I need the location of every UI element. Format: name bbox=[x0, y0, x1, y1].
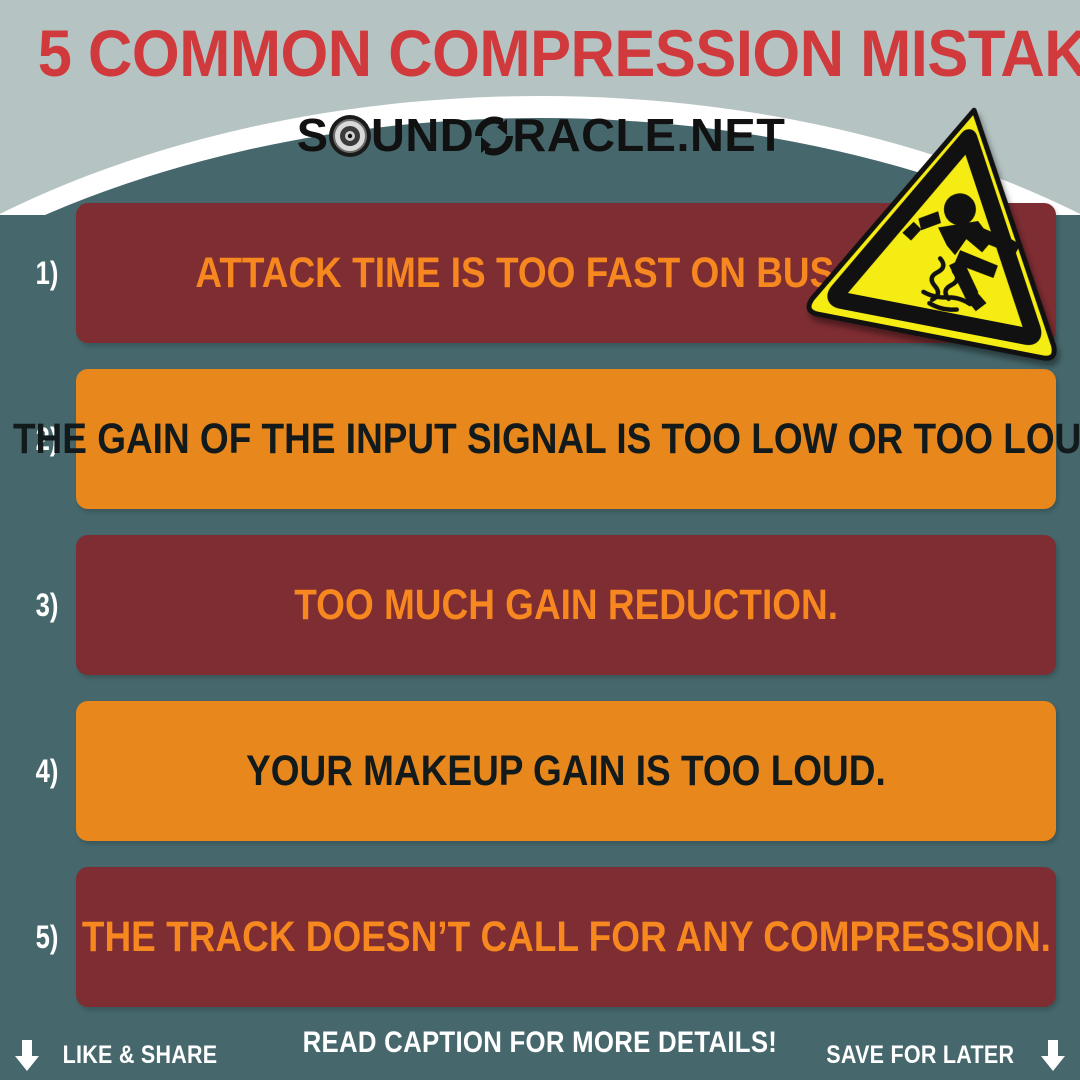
list-item: 3) TOO MUCH GAIN REDUCTION. bbox=[0, 535, 1080, 675]
list-item-bar: YOUR MAKEUP GAIN IS TOO LOUD. bbox=[76, 701, 1056, 841]
list-item-number: 1) bbox=[24, 203, 70, 343]
list-item-label: THE TRACK DOESN’T CALL FOR ANY COMPRESSI… bbox=[81, 914, 1050, 960]
speaker-icon bbox=[328, 114, 372, 158]
footer: LIKE & SHARE READ CAPTION FOR MORE DETAI… bbox=[0, 1020, 1080, 1080]
arrow-down-icon bbox=[1040, 1038, 1066, 1072]
read-caption-label: READ CAPTION FOR MORE DETAILS! bbox=[303, 1026, 778, 1060]
recycle-icon bbox=[473, 114, 515, 158]
infographic-poster: 5 COMMON COMPRESSION MISTAKES S UND RACL… bbox=[0, 0, 1080, 1080]
brand-logo-prefix: S bbox=[297, 108, 329, 162]
brand-logo-suffix: RACLE.NET bbox=[513, 108, 786, 162]
list-item-bar: THE GAIN OF THE INPUT SIGNAL IS TOO LOW … bbox=[76, 369, 1056, 509]
list-item-number: 4) bbox=[24, 701, 70, 841]
list-item-bar: TOO MUCH GAIN REDUCTION. bbox=[76, 535, 1056, 675]
list-item-label: TOO MUCH GAIN REDUCTION. bbox=[294, 582, 838, 628]
list-item-label: YOUR MAKEUP GAIN IS TOO LOUD. bbox=[246, 748, 886, 794]
brand-logo-middle: UND bbox=[371, 108, 474, 162]
list-item-label: THE GAIN OF THE INPUT SIGNAL IS TOO LOW … bbox=[13, 416, 1080, 462]
list-item: 2) THE GAIN OF THE INPUT SIGNAL IS TOO L… bbox=[0, 369, 1080, 509]
page-title: 5 COMMON COMPRESSION MISTAKES bbox=[38, 16, 1042, 90]
save-for-later-cta[interactable]: SAVE FOR LATER bbox=[811, 1038, 1066, 1072]
list-item-bar: THE TRACK DOESN’T CALL FOR ANY COMPRESSI… bbox=[76, 867, 1056, 1007]
list-item-number: 5) bbox=[24, 867, 70, 1007]
list-item-number: 3) bbox=[24, 535, 70, 675]
list-item: 4) YOUR MAKEUP GAIN IS TOO LOUD. bbox=[0, 701, 1080, 841]
list-item: 5) THE TRACK DOESN’T CALL FOR ANY COMPRE… bbox=[0, 867, 1080, 1007]
save-for-later-label: SAVE FOR LATER bbox=[827, 1041, 1015, 1070]
slippery-when-wet-warning-triangle-icon bbox=[795, 73, 1080, 385]
